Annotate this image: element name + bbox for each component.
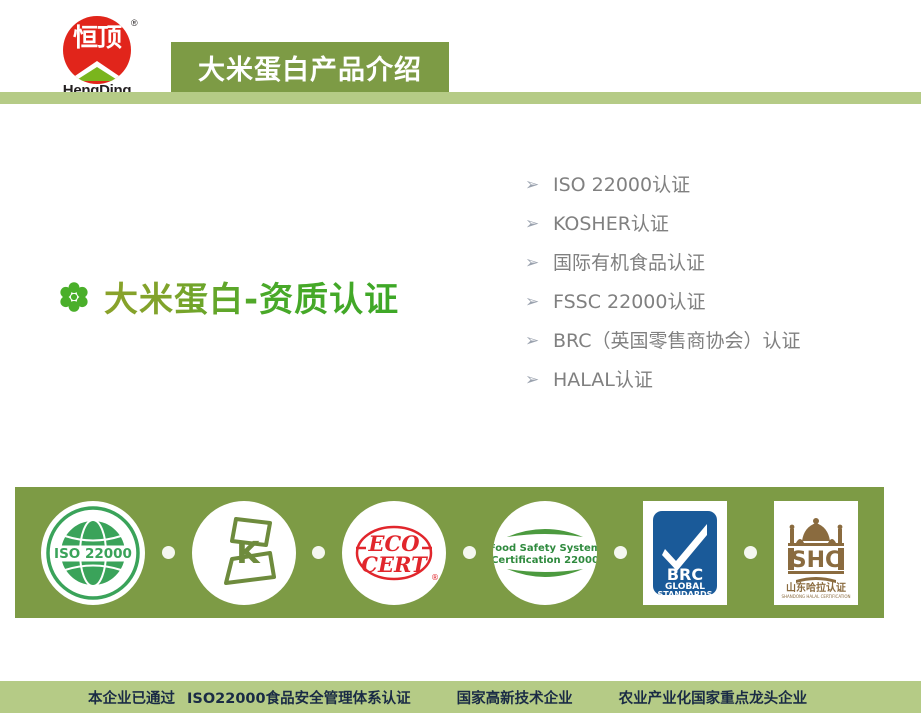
svg-text:CERT: CERT [361, 552, 428, 577]
svg-text:SHC: SHC [791, 548, 841, 573]
certification-list: ➢ ISO 22000认证 ➢ KOSHER认证 ➢ 国际有机食品认证 ➢ FS… [525, 172, 895, 406]
footer-item-leading-enterprise: 农业产业化国家重点龙头企业 [619, 687, 808, 708]
badge-frame: Food Safety System Certification 22000 [493, 501, 597, 605]
slide-footer: 本企业已通过 ISO22000食品安全管理体系认证 国家高新技术企业 农业产业化… [0, 681, 921, 713]
bullet-arrow-icon: ➢ [525, 328, 553, 355]
shc-halal-icon: SHC 山东哈拉认证 SHANDONG HALAL CERTIFICATION [774, 501, 858, 605]
logo-mountain-icon [67, 56, 127, 82]
list-item-label: 国际有机食品认证 [553, 250, 705, 277]
logo-registered-mark: ® [131, 18, 138, 28]
badge-ecocert: ECO CERT ® [342, 501, 446, 605]
fssc-22000-icon: Food Safety System Certification 22000 [493, 501, 597, 605]
flower-icon [58, 281, 90, 313]
bullet-arrow-icon: ➢ [525, 172, 553, 199]
list-item-label: ISO 22000认证 [553, 172, 690, 199]
footer-content: 本企业已通过 ISO22000食品安全管理体系认证 国家高新技术企业 农业产业化… [0, 687, 921, 708]
brc-global-standards-icon: BRC GLOBAL STANDARDS [643, 501, 727, 605]
company-logo: 恒顶 ® HengDing [47, 16, 147, 96]
bullet-arrow-icon: ➢ [525, 367, 553, 394]
list-item-label: BRC（英国零售商协会）认证 [553, 328, 801, 355]
connector-dot [312, 546, 325, 559]
logo-circle: 恒顶 [63, 16, 131, 84]
ecocert-icon: ECO CERT ® [342, 501, 446, 605]
svg-text:山东哈拉认证: 山东哈拉认证 [786, 581, 846, 594]
list-item-label: KOSHER认证 [553, 211, 669, 238]
footer-item-hightech-enterprise: 国家高新技术企业 [457, 687, 573, 708]
header-divider [0, 92, 921, 104]
badge-connector [597, 546, 644, 559]
connector-dot [614, 546, 627, 559]
connector-dot [162, 546, 175, 559]
slide-root: 恒顶 ® HengDing 大米蛋白产品介绍 大米蛋白-资质认证 [0, 0, 921, 725]
badge-brc-global-standards: BRC GLOBAL STANDARDS [643, 501, 727, 605]
badge-intertek-iso22000: ISO 22000 INTERTEK [41, 501, 145, 605]
footer-item-certification-prefix: 本企业已通过 [88, 687, 175, 708]
logo-chinese-characters: 恒顶 [63, 23, 131, 53]
badge-connector [727, 546, 774, 559]
footer-item-iso22000: ISO22000食品安全管理体系认证 [187, 687, 411, 708]
bullet-arrow-icon: ➢ [525, 289, 553, 316]
certification-badge-strip: ISO 22000 INTERTEK K [15, 487, 884, 618]
bullet-arrow-icon: ➢ [525, 250, 553, 277]
list-item-label: HALAL认证 [553, 367, 653, 394]
list-item: ➢ ISO 22000认证 [525, 172, 895, 211]
svg-text:Food Safety System: Food Safety System [493, 543, 597, 554]
badge-frame: ECO CERT ® [342, 501, 446, 605]
page-title: 大米蛋白产品介绍 [198, 48, 422, 87]
svg-text:SHANDONG HALAL CERTIFICATION: SHANDONG HALAL CERTIFICATION [781, 594, 850, 599]
badge-kosher-k: K [192, 501, 296, 605]
list-item: ➢ HALAL认证 [525, 367, 895, 406]
section-title: 大米蛋白-资质认证 [104, 272, 399, 321]
section-heading: 大米蛋白-资质认证 [58, 272, 399, 321]
badge-frame: BRC GLOBAL STANDARDS [643, 501, 727, 605]
list-item: ➢ 国际有机食品认证 [525, 250, 895, 289]
badge-frame: ISO 22000 INTERTEK [41, 501, 145, 605]
intertek-iso22000-icon: ISO 22000 INTERTEK [41, 501, 145, 605]
svg-text:K: K [236, 536, 261, 571]
kosher-k-icon: K [192, 501, 296, 605]
badge-frame: K [192, 501, 296, 605]
connector-dot [463, 546, 476, 559]
badge-frame: SHC 山东哈拉认证 SHANDONG HALAL CERTIFICATION [774, 501, 858, 605]
slide-title-bar: 大米蛋白产品介绍 [171, 42, 449, 92]
svg-text:®: ® [431, 573, 439, 582]
list-item: ➢ KOSHER认证 [525, 211, 895, 250]
svg-text:STANDARDS: STANDARDS [658, 590, 713, 599]
badge-connector [145, 546, 192, 559]
list-item: ➢ FSSC 22000认证 [525, 289, 895, 328]
badge-shc-halal: SHC 山东哈拉认证 SHANDONG HALAL CERTIFICATION [774, 501, 858, 605]
connector-dot [744, 546, 757, 559]
badge-connector [296, 546, 343, 559]
badge-connector [446, 546, 493, 559]
bullet-arrow-icon: ➢ [525, 211, 553, 238]
list-item-label: FSSC 22000认证 [553, 289, 705, 316]
badge-fssc-22000: Food Safety System Certification 22000 [493, 501, 597, 605]
slide-header: 恒顶 ® HengDing 大米蛋白产品介绍 [0, 0, 921, 104]
list-item: ➢ BRC（英国零售商协会）认证 [525, 328, 895, 367]
svg-text:ISO 22000: ISO 22000 [54, 546, 132, 562]
svg-text:Certification 22000: Certification 22000 [493, 555, 597, 566]
